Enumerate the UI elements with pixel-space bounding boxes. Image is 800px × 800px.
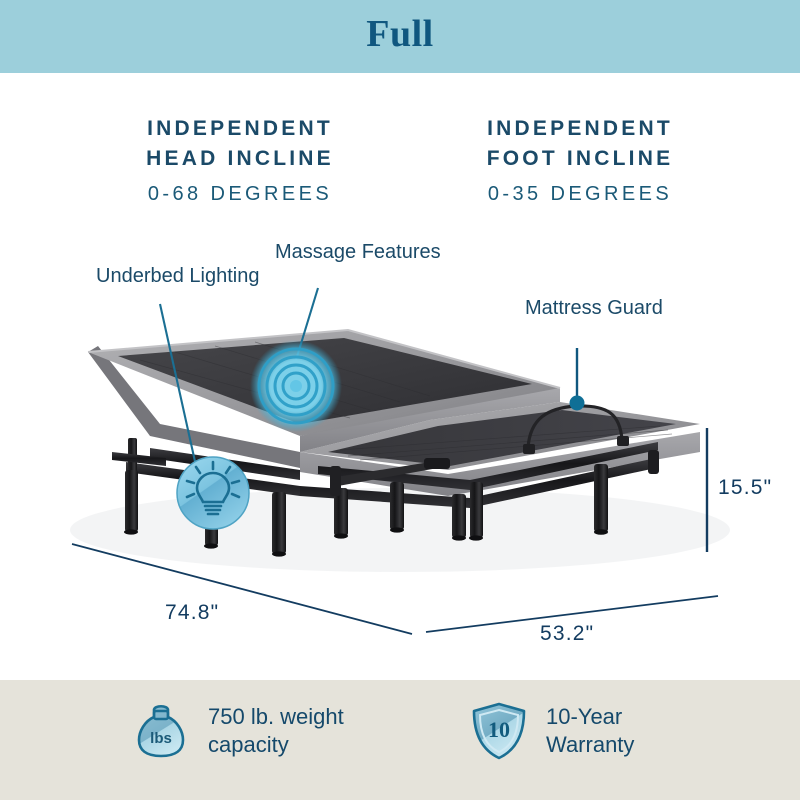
leg-2 <box>205 482 218 546</box>
leg-7 <box>470 482 483 538</box>
spec-title-line1: INDEPENDENT <box>60 114 420 144</box>
dimension-label-width: 53.2" <box>540 622 594 646</box>
infographic-root: Full INDEPENDENT HEAD INCLINE 0-68 DEGRE… <box>0 0 800 800</box>
head-mesh-surface <box>118 338 532 424</box>
leg-rear-1 <box>330 466 341 496</box>
leg-foot-rear <box>648 450 659 474</box>
leader-line-massage <box>296 288 318 360</box>
lightbulb-icon <box>177 457 249 529</box>
callout-label-mattress-guard: Mattress Guard <box>525 296 633 321</box>
callout-leader-lines <box>160 288 585 466</box>
bed-frame-rails <box>112 438 658 508</box>
leg-5 <box>390 482 404 530</box>
massage-rings-icon <box>250 340 342 432</box>
bed-head-section <box>88 330 560 468</box>
footer-text-warranty: 10-Year Warranty <box>546 703 634 759</box>
foot-mesh-surface <box>328 410 676 466</box>
bed-foot-section <box>300 402 700 496</box>
leg-left-front <box>125 470 138 532</box>
dimension-label-length: 74.8" <box>165 601 219 625</box>
head-deck-edge-right <box>300 388 560 452</box>
leg-foot-front <box>594 464 608 532</box>
bed-legs <box>124 450 659 557</box>
leg-6 <box>452 494 466 538</box>
dot-marker-icon <box>570 396 585 411</box>
spec-title-line1: INDEPENDENT <box>400 114 760 144</box>
callout-label-underbed-lighting: Underbed Lighting <box>96 264 208 289</box>
dimension-line-length <box>72 544 412 634</box>
head-deck-edge-left <box>88 346 300 468</box>
mattress-guard-wire <box>523 406 629 454</box>
leg-4 <box>334 488 348 536</box>
spec-range-head: 0-68 DEGREES <box>60 183 420 206</box>
kettlebell-icon-label: lbs <box>150 730 172 747</box>
shield-icon: 10 <box>468 700 530 762</box>
callout-label-massage-features: Massage Features <box>275 240 385 265</box>
footer-band <box>0 680 800 800</box>
footer-item-warranty: 10 10-Year Warranty <box>468 700 634 762</box>
foot-deck-top <box>300 402 700 470</box>
spec-title-line2: HEAD INCLINE <box>60 144 420 174</box>
kettlebell-icon: lbs <box>130 700 192 762</box>
spec-title-line2: FOOT INCLINE <box>400 144 760 174</box>
head-deck-highlight <box>88 330 560 388</box>
shield-icon-label: 10 <box>488 717 510 742</box>
leg-3 <box>272 492 286 554</box>
page-title: Full <box>0 12 800 56</box>
spec-foot-incline: INDEPENDENT FOOT INCLINE 0-35 DEGREES <box>400 114 760 206</box>
dimension-label-height: 15.5" <box>718 476 772 500</box>
head-deck-top <box>88 330 560 436</box>
leader-line-underbed <box>160 304 196 466</box>
footer-item-weight-capacity: lbs 750 lb. weight capacity <box>130 700 344 762</box>
spec-range-foot: 0-35 DEGREES <box>400 183 760 206</box>
footer-text-weight-capacity: 750 lb. weight capacity <box>208 703 344 759</box>
floor-shadow <box>70 488 730 572</box>
spec-head-incline: INDEPENDENT HEAD INCLINE 0-68 DEGREES <box>60 114 420 206</box>
foot-deck-edge <box>300 432 700 496</box>
